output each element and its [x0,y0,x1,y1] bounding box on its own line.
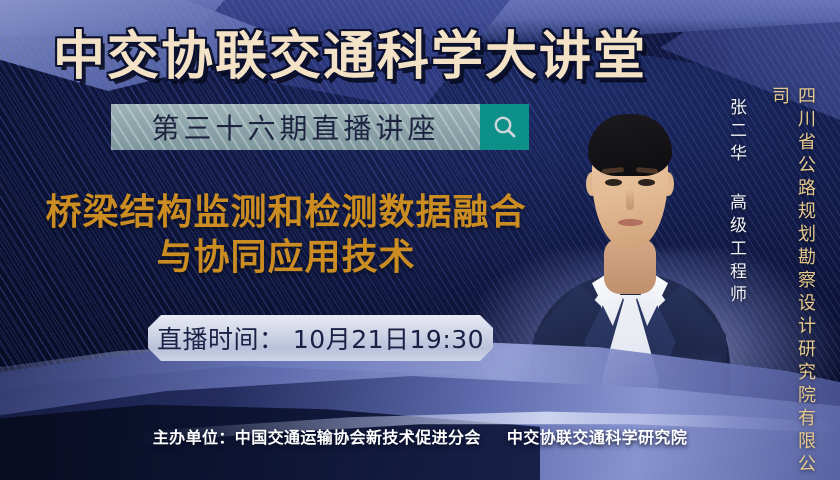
search-icon [491,113,519,141]
livestream-poster: 中交协联交通科学大讲堂 第三十六期直播讲座 桥梁结构监测和检测数据融合 与协同应… [0,0,840,480]
lecture-title: 桥梁结构监测和检测数据融合 与协同应用技术 [26,190,546,281]
organizer-name-2: 中交协联交通科学研究院 [507,428,687,447]
organizer-label: 主办单位： [153,428,235,447]
episode-bar[interactable]: 第三十六期直播讲座 [111,104,529,150]
episode-label: 第三十六期直播讲座 [151,107,439,147]
search-button[interactable] [480,104,529,150]
broadcast-time-banner: 直播时间： 10月21日19:30 [148,315,493,361]
photo-nose [626,188,634,210]
photo-eye-left [605,179,622,186]
speaker-name-title: 张二华 高级工程师 [724,98,749,308]
organizer-name-1: 中国交通运输协会新技术促进分会 [235,428,481,447]
broadcast-time-text: 直播时间： 10月21日19:30 [157,320,484,356]
photo-mouth [618,219,643,226]
speaker-organization: 四川省公路规划勘察设计研究院有限公司 [766,86,818,480]
photo-hair [588,114,672,176]
lecture-title-line-2: 与协同应用技术 [26,235,546,280]
episode-label-container: 第三十六期直播讲座 [111,104,480,150]
photo-eye-right [638,179,655,186]
lecture-title-line-1: 桥梁结构监测和检测数据融合 [26,190,546,235]
organizer-footer: 主办单位：中国交通运输协会新技术促进分会中交协联交通科学研究院 [0,424,840,448]
page-title: 中交协联交通科学大讲堂 [0,14,700,89]
